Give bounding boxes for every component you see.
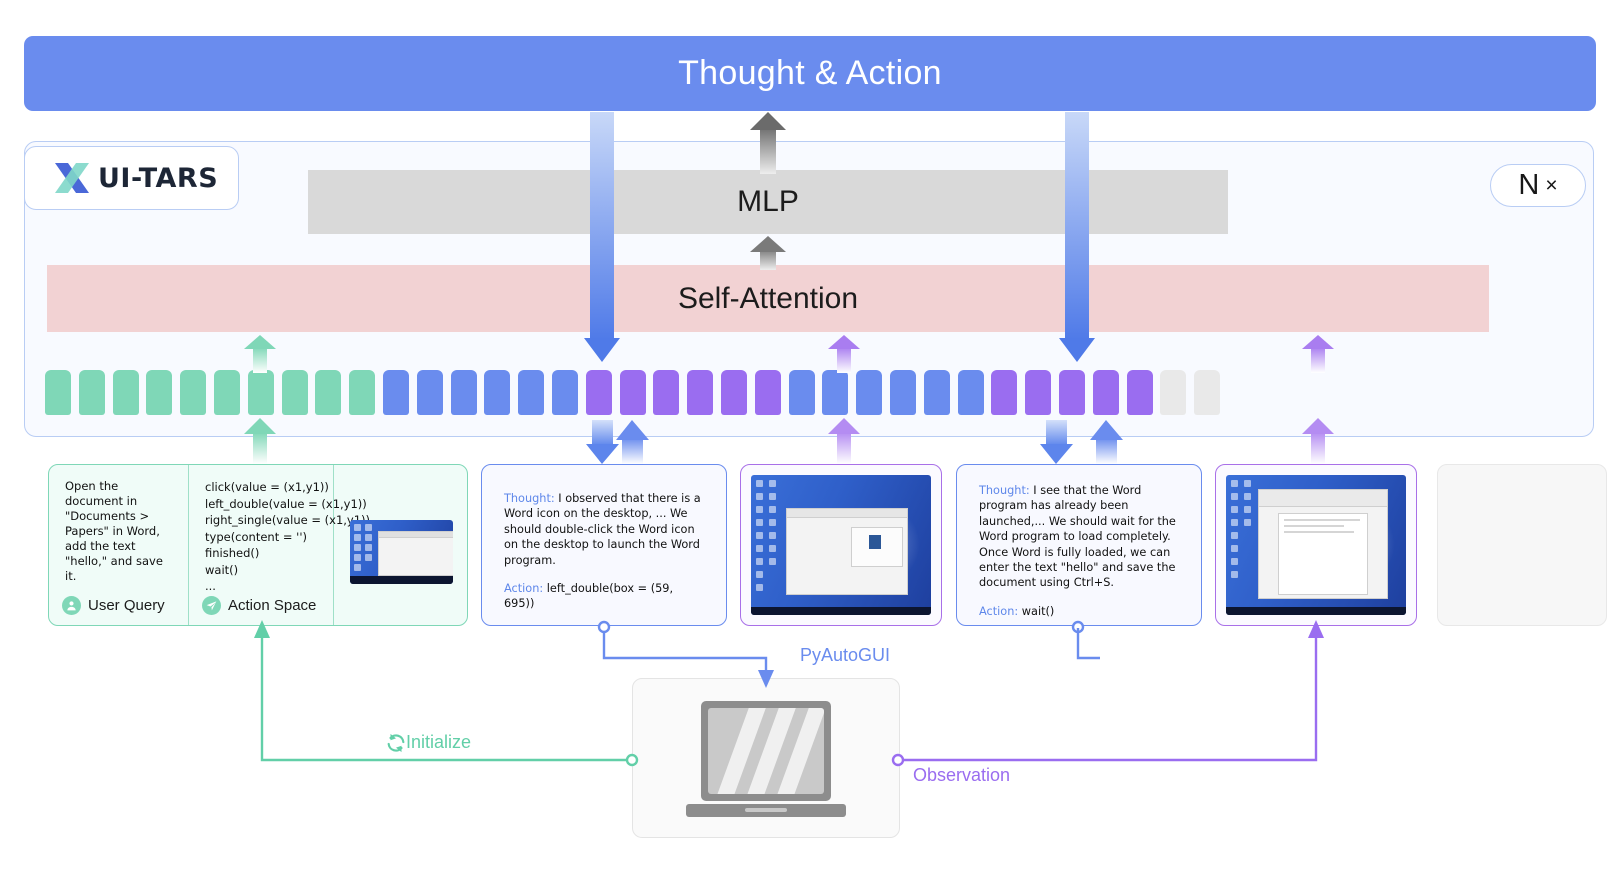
pyautogui-label: PyAutoGUI	[800, 645, 890, 666]
refresh-icon	[385, 732, 407, 754]
initialize-label: Initialize	[406, 732, 471, 753]
token-23	[822, 370, 848, 415]
initial-screenshot-column	[334, 465, 465, 625]
laptop-base	[686, 804, 846, 817]
observation-branch	[890, 700, 1330, 770]
observation-screenshot-1	[751, 475, 931, 615]
action-space-label-group: Action Space	[202, 596, 316, 615]
token-1	[79, 370, 105, 415]
token-13	[484, 370, 510, 415]
person-icon	[62, 596, 81, 615]
arrow-up-thought-1-tokens	[616, 420, 650, 464]
arrow-down-thought-1-card	[586, 420, 620, 464]
token-7	[282, 370, 308, 415]
arrow-up-observation-1	[826, 335, 862, 373]
arrow-up-thought-2-tokens	[1090, 420, 1124, 464]
arrow-attn-to-mlp	[748, 236, 788, 270]
action-space-line-3: type(content = '')	[205, 529, 321, 546]
observation-card-1	[740, 464, 942, 626]
action-keyword-2: Action:	[979, 605, 1018, 618]
arrow-down-to-thought-1	[583, 112, 621, 362]
token-33	[1160, 370, 1186, 415]
user-query-label: User Query	[88, 597, 165, 614]
thought-action-banner: Thought & Action	[24, 36, 1596, 111]
observation-card-2	[1215, 464, 1417, 626]
token-5	[214, 370, 240, 415]
token-4	[180, 370, 206, 415]
self-attention-block: Self-Attention	[47, 265, 1489, 332]
repeat-count: N	[1518, 169, 1539, 202]
token-31	[1093, 370, 1119, 415]
token-6	[248, 370, 274, 415]
token-9	[349, 370, 375, 415]
token-12	[451, 370, 477, 415]
action-space-line-5: wait()	[205, 562, 321, 579]
action-space-column: click(value = (x1,y1))left_double(value …	[189, 465, 334, 625]
token-8	[315, 370, 341, 415]
token-19	[687, 370, 713, 415]
user-query-text: Open the document in "Documents > Papers…	[65, 479, 176, 584]
thought-2-output-stub	[1060, 620, 1100, 670]
observation-screenshot-2	[1226, 475, 1406, 615]
token-22	[789, 370, 815, 415]
continuation-card-placeholder	[1437, 464, 1607, 626]
user-query-card: Open the document in "Documents > Papers…	[48, 464, 468, 626]
thought-text-2: Thought: I see that the Word program has…	[979, 483, 1179, 591]
token-15	[552, 370, 578, 415]
thought-keyword-1: Thought:	[504, 492, 555, 505]
arrow-up-observation-1-strip	[826, 418, 862, 464]
token-29	[1025, 370, 1051, 415]
action-space-label: Action Space	[228, 597, 316, 614]
token-18	[653, 370, 679, 415]
diagram-canvas: Thought & Action UI-TARS N × MLP Self-At…	[0, 0, 1622, 890]
token-27	[958, 370, 984, 415]
arrow-down-thought-2-card	[1040, 420, 1074, 464]
token-26	[924, 370, 950, 415]
action-space-line-2: right_single(value = (x1,y1))	[205, 512, 321, 529]
arrow-up-observation-2	[1300, 335, 1336, 373]
ui-tars-logo: UI-TARS	[24, 146, 239, 210]
token-11	[417, 370, 443, 415]
repeat-times-symbol: ×	[1545, 174, 1557, 198]
token-24	[856, 370, 882, 415]
arrow-up-observation-2-strip	[1300, 418, 1336, 464]
token-17	[620, 370, 646, 415]
token-20	[721, 370, 747, 415]
token-34	[1194, 370, 1220, 415]
thought-action-card-2: Thought: I see that the Word program has…	[956, 464, 1202, 626]
arrow-down-to-thought-2	[1058, 112, 1096, 362]
action-space-line-0: click(value = (x1,y1))	[205, 479, 321, 496]
user-query-column: Open the document in "Documents > Papers…	[49, 465, 189, 625]
action-space-lines: click(value = (x1,y1))left_double(value …	[205, 479, 321, 595]
action-space-line-4: finished()	[205, 545, 321, 562]
action-keyword-1: Action:	[504, 582, 543, 595]
token-21	[755, 370, 781, 415]
token-10	[383, 370, 409, 415]
thought-keyword-2: Thought:	[979, 484, 1030, 497]
x-logo-icon	[52, 161, 92, 195]
action-text-2: Action: wait()	[979, 604, 1179, 619]
token-28	[991, 370, 1017, 415]
banner-title: Thought & Action	[678, 54, 942, 93]
action-space-line-6: ...	[205, 578, 321, 595]
action-body-2: wait()	[1018, 605, 1054, 618]
observation-label: Observation	[913, 765, 1010, 786]
token-sequence	[45, 370, 1495, 415]
arrow-mlp-to-output	[748, 112, 788, 174]
thought-body-2: I see that the Word program has already …	[979, 484, 1176, 589]
token-32	[1127, 370, 1153, 415]
token-2	[113, 370, 139, 415]
laptop-icon	[701, 701, 831, 801]
ui-tars-logo-text: UI-TARS	[98, 163, 218, 194]
repeat-badge: N ×	[1490, 164, 1586, 207]
self-attention-label: Self-Attention	[678, 282, 858, 316]
arrow-up-query-into-strip	[242, 418, 278, 464]
token-3	[146, 370, 172, 415]
initial-screenshot-thumb	[350, 520, 453, 584]
token-0	[45, 370, 71, 415]
action-space-line-1: left_double(value = (x1,y1))	[205, 496, 321, 513]
paper-plane-icon	[202, 596, 221, 615]
token-25	[890, 370, 916, 415]
computer-environment	[632, 678, 900, 838]
thought-text-1: Thought: I observed that there is a Word…	[504, 491, 704, 568]
token-16	[586, 370, 612, 415]
token-30	[1059, 370, 1085, 415]
mlp-label: MLP	[737, 185, 799, 219]
thought-action-card-1: Thought: I observed that there is a Word…	[481, 464, 727, 626]
token-14	[518, 370, 544, 415]
action-text-1: Action: left_double(box = (59, 695))	[504, 581, 704, 612]
user-query-label-group: User Query	[62, 596, 165, 615]
arrow-up-query-tokens	[242, 335, 278, 373]
